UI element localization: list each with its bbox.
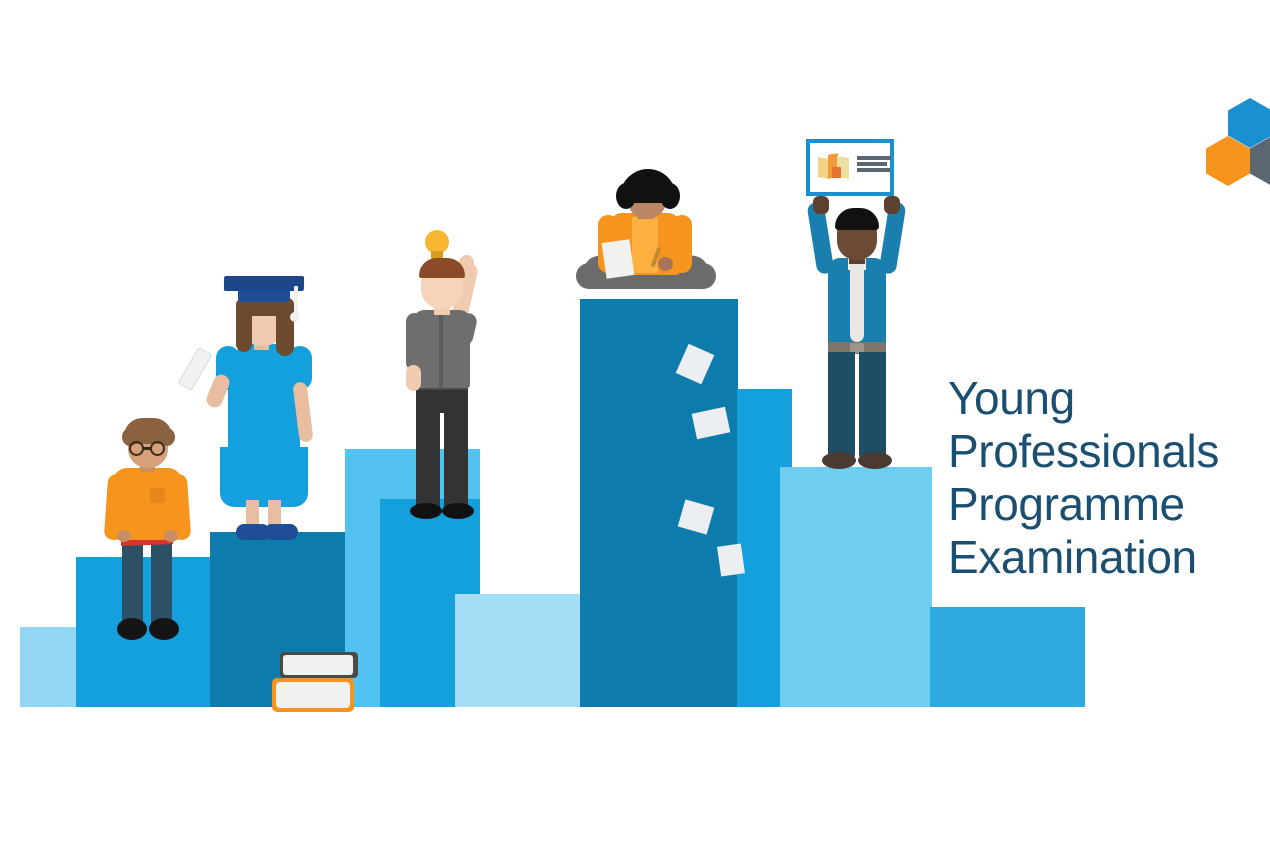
bar-1 bbox=[20, 627, 77, 707]
figure-graduate-woman bbox=[180, 272, 340, 550]
glasses-icon bbox=[129, 441, 144, 456]
bar-6 bbox=[580, 299, 738, 707]
un-awards-logo-icon bbox=[818, 154, 852, 180]
un-awards-sign bbox=[806, 139, 894, 196]
bar-5b bbox=[455, 594, 580, 707]
un-awards-wordmark bbox=[857, 156, 893, 178]
figure-man-with-idea bbox=[392, 225, 498, 525]
figure-man-holding-sign bbox=[802, 196, 912, 476]
title-line-4: Examination bbox=[948, 531, 1219, 584]
title-line-2: Professionals bbox=[948, 425, 1219, 478]
bar-8 bbox=[780, 467, 932, 707]
page-title: Young Professionals Programme Examinatio… bbox=[948, 372, 1219, 584]
title-line-3: Programme bbox=[948, 478, 1219, 531]
falling-paper-4 bbox=[717, 543, 745, 576]
illustration-banner: Young Professionals Programme Examinatio… bbox=[0, 0, 1270, 847]
figure-seated-woman-studying bbox=[566, 165, 726, 307]
bar-9 bbox=[930, 607, 1085, 707]
book-stack bbox=[272, 652, 362, 714]
paper-sheet-icon bbox=[602, 239, 635, 279]
diploma-icon bbox=[178, 347, 213, 391]
title-line-1: Young bbox=[948, 372, 1219, 425]
necktie-icon bbox=[850, 264, 864, 342]
